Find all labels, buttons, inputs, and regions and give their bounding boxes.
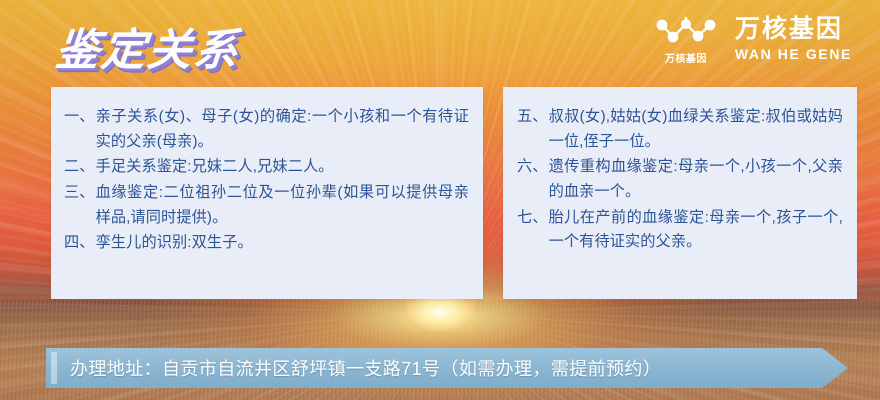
brand-name-cn: 万核基因 [735, 17, 843, 42]
relationship-list-panel-left: 一、 亲子关系(女)、母子(女)的确定:一个小孩和一个有待证实的父亲(母亲)。 … [51, 87, 483, 299]
list-item-number: 一、 [64, 105, 96, 130]
address-text: 办理地址：自贡市自流井区舒坪镇一支路71号（如需办理，需提前预约） [70, 348, 661, 388]
list-item: 二、 手足关系鉴定:兄妹二人,兄妹二人。 [64, 155, 469, 180]
brand-wordmark: 万核基因 WAN HE GENE [735, 17, 852, 61]
list-item: 一、 亲子关系(女)、母子(女)的确定:一个小孩和一个有待证实的父亲(母亲)。 [64, 105, 469, 154]
relationship-list-panel-right: 五、 叔叔(女),姑姑(女)血绿关系鉴定:叔伯或姑妈一位,侄子一位。 六、 遗传… [503, 87, 857, 299]
list-item-text: 胎儿在产前的血缘鉴定:母亲一个,孩子一个,一个有待证实的父亲。 [549, 206, 843, 255]
list-item-number: 六、 [517, 155, 549, 180]
page-title: 鉴定关系 [53, 14, 244, 78]
list-item-number: 四、 [64, 231, 96, 256]
brand-mark-caption: 万核基因 [653, 50, 719, 65]
poster-root: 鉴定关系 [0, 0, 880, 400]
list-item-text: 手足关系鉴定:兄妹二人,兄妹二人。 [96, 155, 469, 180]
list-item: 七、 胎儿在产前的血缘鉴定:母亲一个,孩子一个,一个有待证实的父亲。 [517, 206, 843, 255]
address-banner-accent-bar [51, 352, 57, 384]
list-item-number: 二、 [64, 155, 96, 180]
list-item-number: 七、 [517, 206, 549, 231]
list-item-text: 血缘鉴定:二位祖孙二位及一位孙辈(如果可以提供母亲样品,请同时提供)。 [96, 181, 469, 230]
list-item-text: 孪生儿的识别:双生子。 [96, 231, 469, 256]
list-item: 五、 叔叔(女),姑姑(女)血绿关系鉴定:叔伯或姑妈一位,侄子一位。 [517, 105, 843, 154]
list-item-text: 叔叔(女),姑姑(女)血绿关系鉴定:叔伯或姑妈一位,侄子一位。 [549, 105, 843, 154]
list-item-text: 亲子关系(女)、母子(女)的确定:一个小孩和一个有待证实的父亲(母亲)。 [96, 105, 469, 154]
list-item: 四、 孪生儿的识别:双生子。 [64, 231, 469, 256]
header: 鉴定关系 [0, 0, 880, 88]
list-item-number: 五、 [517, 105, 549, 130]
molecule-network-icon: 万核基因 [653, 14, 719, 64]
brand-name-en: WAN HE GENE [735, 47, 852, 61]
list-item-number: 三、 [64, 181, 96, 206]
list-item-text: 遗传重构血缘鉴定:母亲一个,小孩一个,父亲的血亲一个。 [549, 155, 843, 204]
list-item: 六、 遗传重构血缘鉴定:母亲一个,小孩一个,父亲的血亲一个。 [517, 155, 843, 204]
list-item: 三、 血缘鉴定:二位祖孙二位及一位孙辈(如果可以提供母亲样品,请同时提供)。 [64, 181, 469, 230]
brand-lockup: 万核基因 万核基因 WAN HE GENE [653, 14, 852, 64]
relationship-list-right: 五、 叔叔(女),姑姑(女)血绿关系鉴定:叔伯或姑妈一位,侄子一位。 六、 遗传… [503, 87, 857, 255]
relationship-list-left: 一、 亲子关系(女)、母子(女)的确定:一个小孩和一个有待证实的父亲(母亲)。 … [51, 87, 483, 256]
